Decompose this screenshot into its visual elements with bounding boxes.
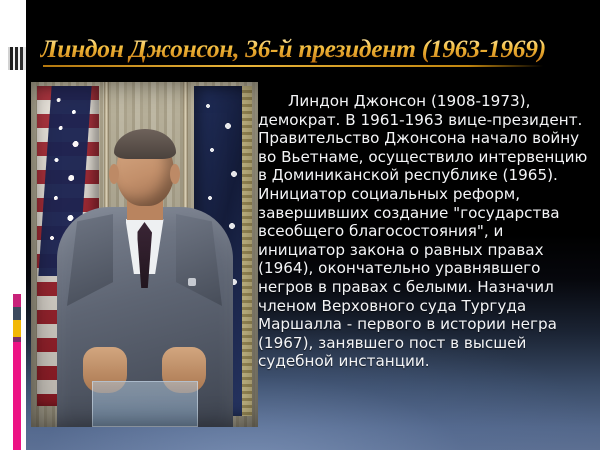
accent-segment-magenta — [13, 342, 21, 450]
slide-title: Линдон Джонсон, 36-й президент (1963-196… — [40, 36, 580, 63]
accent-color-stripe — [13, 294, 21, 450]
accent-segment-magenta-top — [13, 294, 21, 307]
president-portrait-photo — [31, 82, 258, 427]
barcode-stripes-decoration — [8, 47, 26, 70]
accent-segment-slate — [13, 307, 21, 320]
photo-vignette — [31, 82, 258, 427]
accent-segment-yellow — [13, 320, 21, 337]
slide-body-text: Линдон Джонсон (1908-1973), демократ. В … — [258, 92, 594, 371]
presentation-slide: Линдон Джонсон, 36-й президент (1963-196… — [0, 0, 600, 450]
slide-title-underline — [43, 65, 543, 67]
